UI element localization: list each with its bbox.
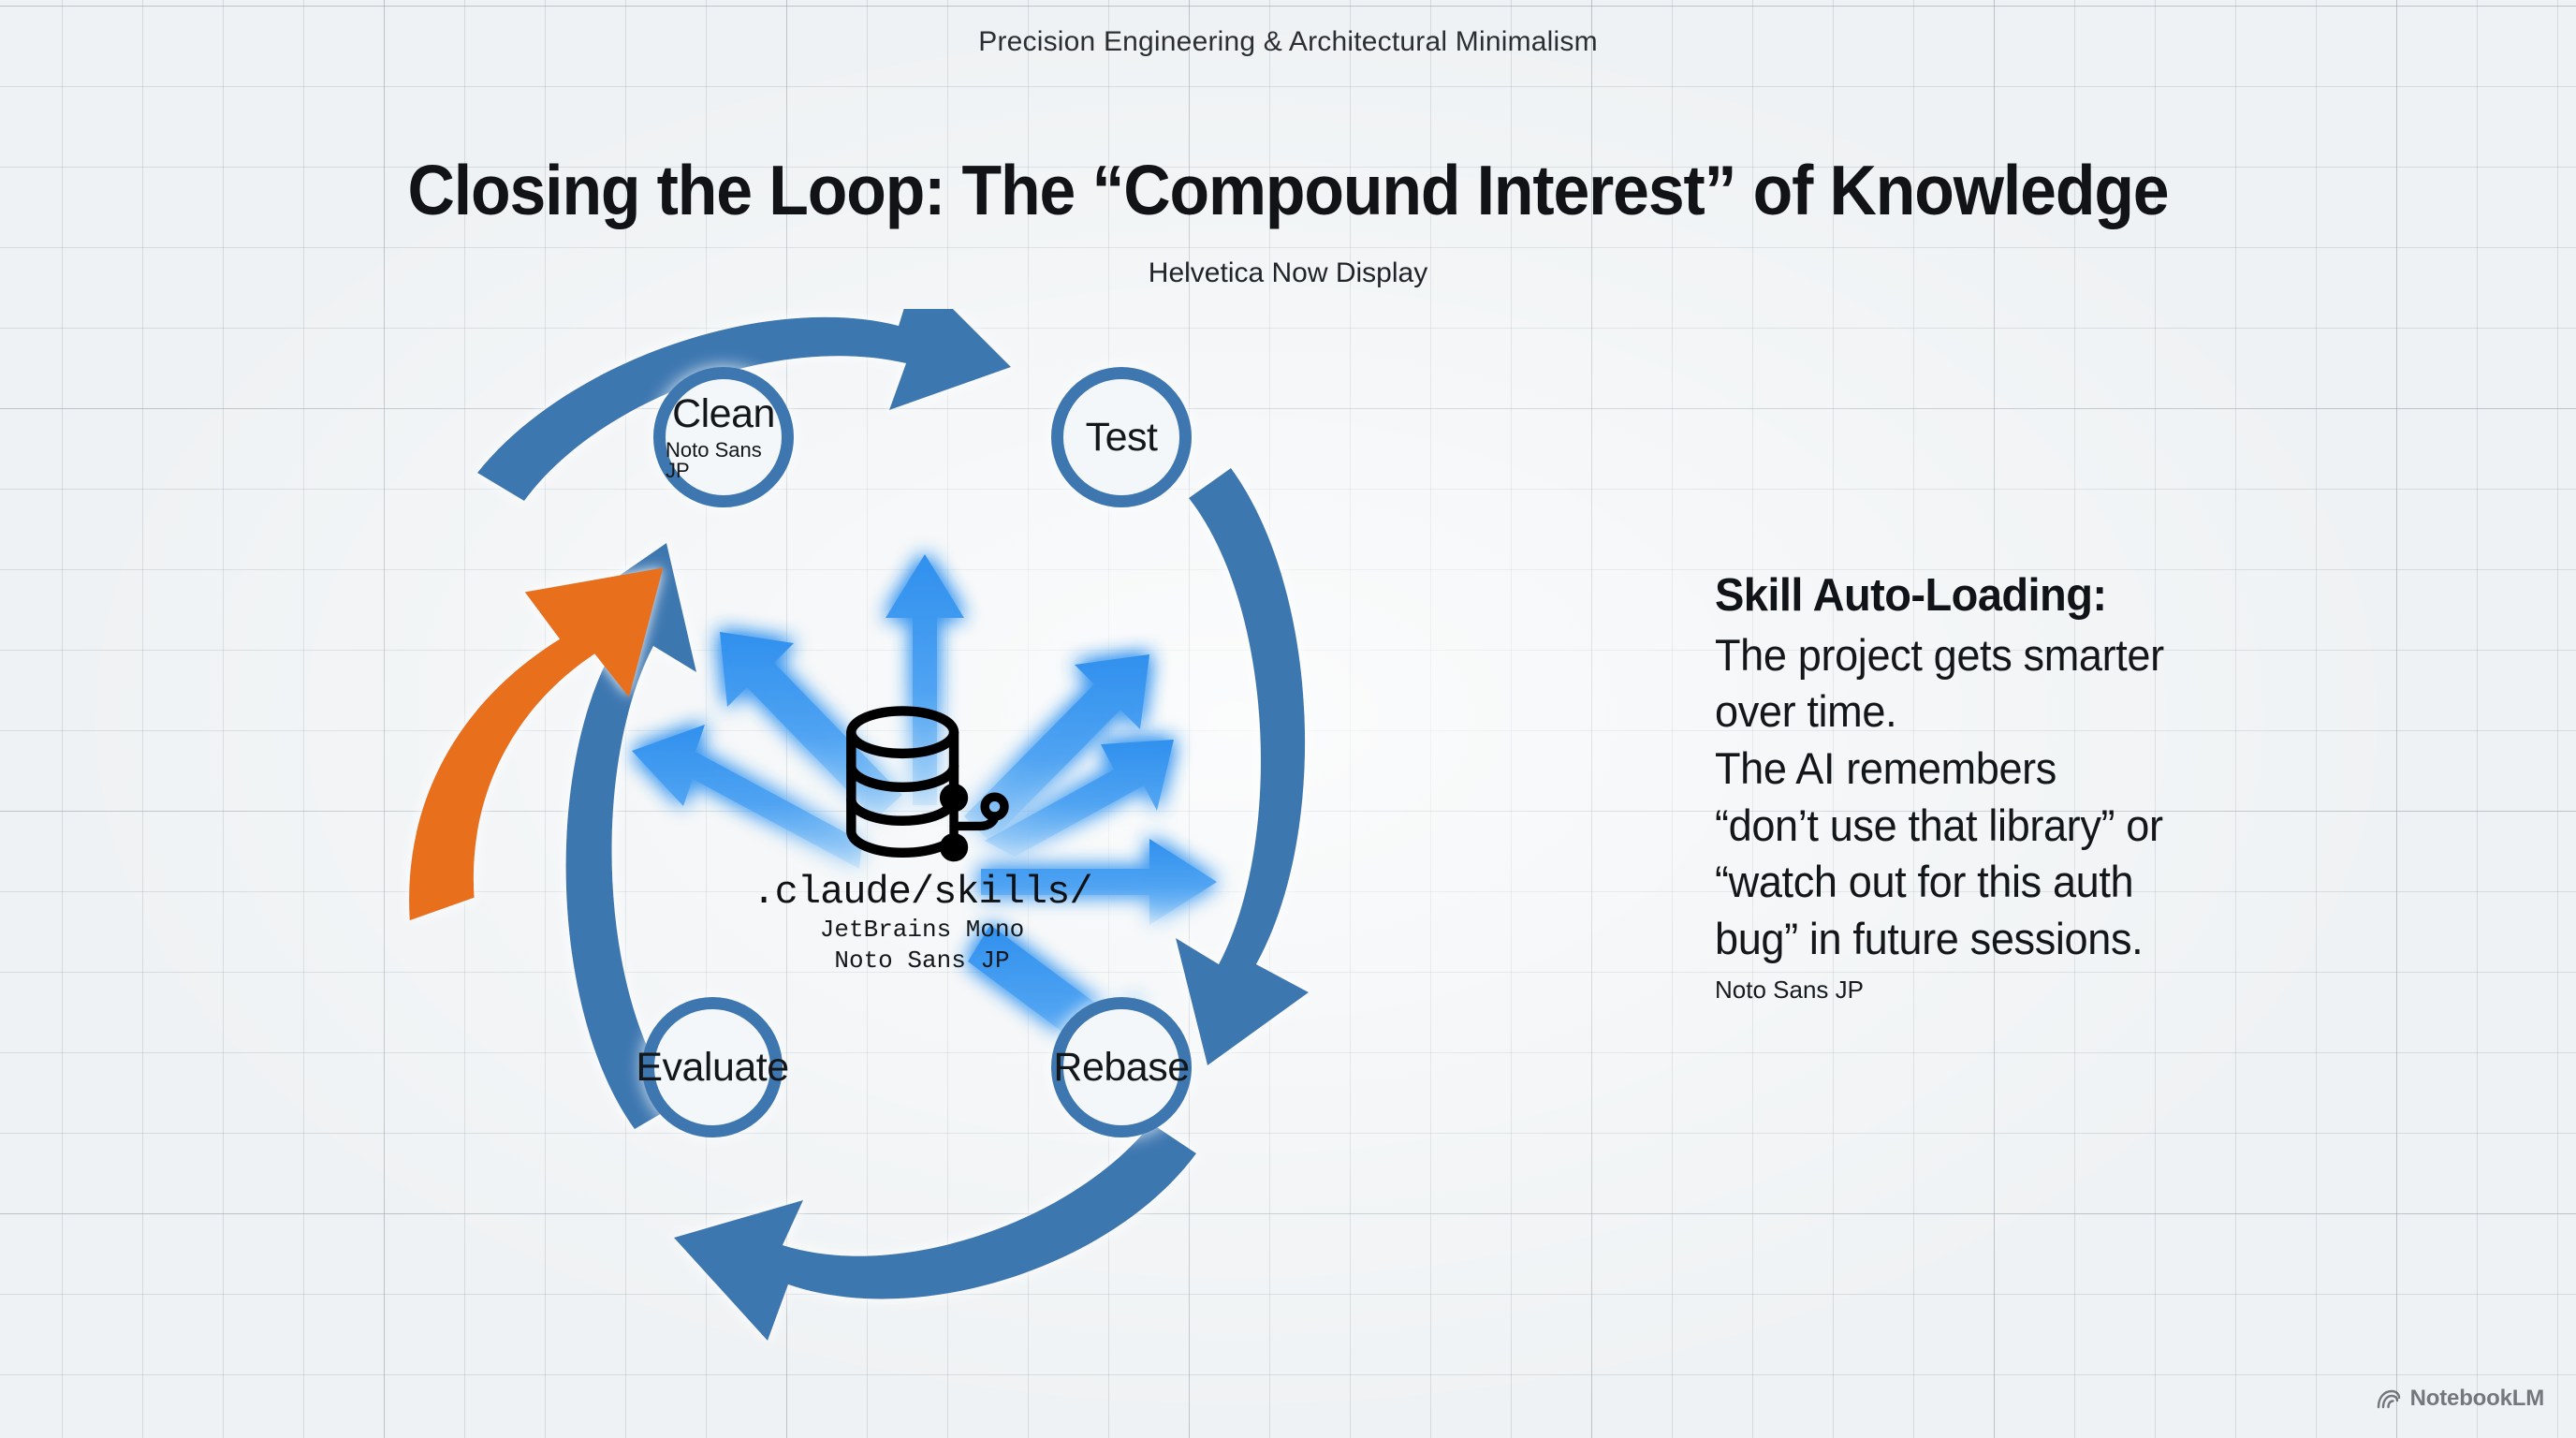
title-font-note: Helvetica Now Display — [0, 257, 2576, 289]
panel-line-5: “watch out for this auth — [1715, 854, 2461, 911]
cycle-diagram: Clean Noto Sans JP Test Rebase Evaluate — [365, 309, 1526, 1376]
cycle-node-rebase[interactable]: Rebase — [1051, 997, 1192, 1137]
cycle-node-clean-note: Noto Sans JP — [666, 440, 782, 481]
cycle-node-test-label: Test — [1086, 418, 1158, 458]
cycle-node-evaluate-label: Evaluate — [636, 1048, 788, 1088]
panel-font-note: Noto Sans JP — [1715, 976, 2492, 1005]
skill-auto-loading-panel: Skill Auto-Loading: The project gets sma… — [1715, 569, 2492, 1005]
cycle-node-test[interactable]: Test — [1051, 367, 1192, 507]
radiating-arrow-up — [885, 554, 964, 805]
notebooklm-watermark: NotebookLM — [2377, 1386, 2544, 1412]
slide-eyebrow: Precision Engineering & Architectural Mi… — [0, 26, 2576, 58]
cycle-node-rebase-label: Rebase — [1053, 1048, 1189, 1088]
page-title: Closing the Loop: The “Compound Interest… — [90, 150, 2485, 230]
loop-arrow-right — [1176, 468, 1309, 1065]
panel-line-3: The AI remembers — [1715, 741, 2461, 798]
cycle-node-evaluate[interactable]: Evaluate — [642, 997, 783, 1137]
cycle-node-clean[interactable]: Clean Noto Sans JP — [653, 367, 794, 507]
cycle-node-clean-label: Clean — [672, 394, 775, 434]
notebooklm-label: NotebookLM — [2410, 1386, 2544, 1412]
panel-line-6: bug” in future sessions. — [1715, 911, 2461, 968]
diagram-vectors — [365, 309, 1526, 1376]
notebooklm-arc-icon — [2377, 1388, 2401, 1409]
panel-line-1: The project gets smarter — [1715, 627, 2461, 684]
panel-line-2: over time. — [1715, 683, 2461, 741]
panel-heading: Skill Auto-Loading: — [1715, 569, 2461, 624]
panel-line-4: “don’t use that library” or — [1715, 798, 2461, 855]
loop-arrow-bottom — [674, 1123, 1196, 1341]
